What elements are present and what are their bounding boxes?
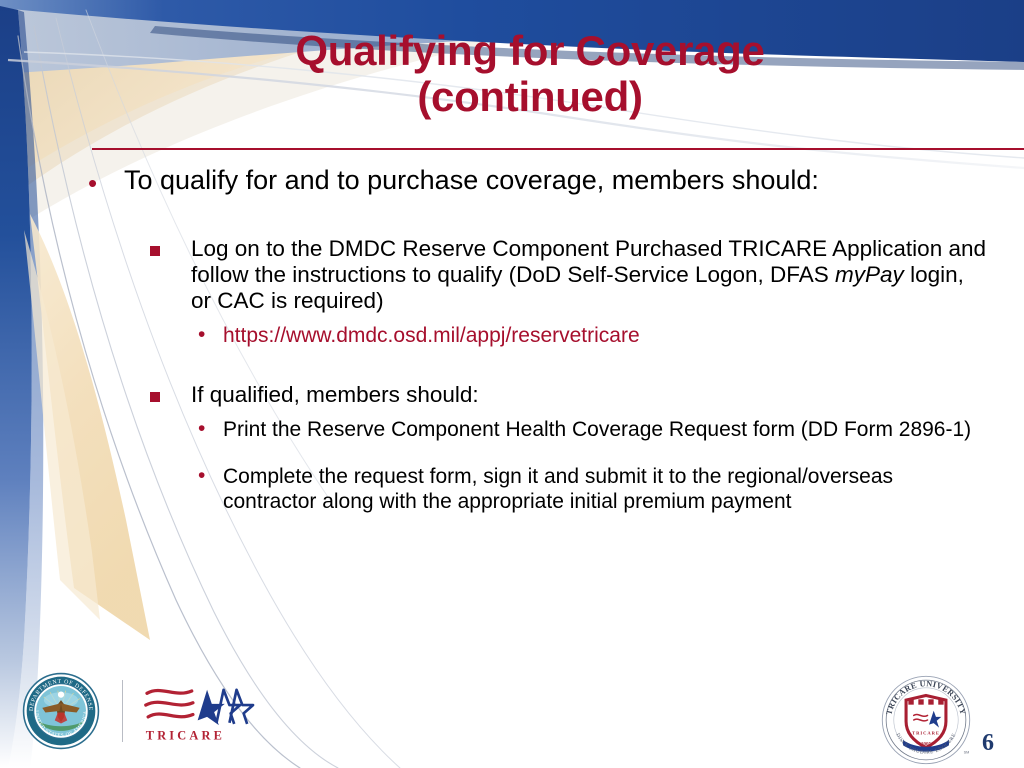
tricare-university-seal-icon: TRICARE 2005 TRICARE UNIVERSITY DISCE ER… — [880, 674, 972, 766]
dod-seal-icon: DEPARTMENT OF DEFENSE UNITED STATES OF A… — [22, 672, 100, 750]
bullet-level3-item-print-form: • Print the Reserve Component Health Cov… — [198, 417, 988, 442]
reservetricare-url-link[interactable]: https://www.dmdc.osd.mil/appj/reservetri… — [223, 323, 988, 348]
title-line-2: (continued) — [90, 74, 970, 120]
footer-right-group: TRICARE 2005 TRICARE UNIVERSITY DISCE ER… — [880, 674, 994, 766]
square-bullet-icon — [150, 236, 191, 256]
square-bullet-icon — [150, 382, 191, 402]
round-dot-bullet-icon: • — [198, 323, 223, 345]
spacer — [88, 348, 988, 382]
slide-title: Qualifying for Coverage (continued) — [90, 28, 970, 120]
footer-divider — [122, 680, 123, 742]
bullet-level1-text: To qualify for and to purchase coverage,… — [124, 164, 988, 196]
slide-body: • To qualify for and to purchase coverag… — [88, 164, 988, 514]
round-dot-bullet-icon: • — [198, 464, 223, 486]
footer-logos-left: DEPARTMENT OF DEFENSE UNITED STATES OF A… — [22, 672, 259, 750]
bullet-level2-item-if-qualified: If qualified, members should: — [150, 382, 988, 408]
bullet-level1-item: • To qualify for and to purchase coverag… — [88, 164, 988, 196]
round-dot-bullet-icon: • — [198, 417, 223, 439]
slide-number: 6 — [982, 730, 994, 757]
svg-text:TRICARE: TRICARE — [146, 728, 225, 742]
spacer — [88, 442, 988, 464]
bullet-level2-text-if-qualified: If qualified, members should: — [191, 382, 988, 408]
left-blue-band-feather — [8, 10, 43, 768]
svg-text:TRICARE: TRICARE — [912, 731, 940, 736]
left-blue-band — [0, 6, 32, 768]
round-dot-bullet-icon: • — [88, 164, 124, 196]
title-underline-rule — [92, 148, 1024, 150]
svg-text:2005: 2005 — [921, 742, 931, 747]
title-line-1: Qualifying for Coverage — [90, 28, 970, 74]
mypay-italic-text: myPay — [835, 262, 904, 287]
spacer — [88, 314, 988, 323]
slide-canvas: Qualifying for Coverage (continued) • To… — [0, 0, 1024, 768]
bullet-level3-text-complete-form: Complete the request form, sign it and s… — [223, 464, 988, 514]
service-mark-text: SM — [964, 751, 970, 755]
bullet-level2-text-logon: Log on to the DMDC Reserve Component Pur… — [191, 236, 988, 314]
spacer — [88, 202, 988, 236]
bullet-level2-item-logon: Log on to the DMDC Reserve Component Pur… — [150, 236, 988, 314]
tricare-logo-icon: TRICARE — [141, 678, 259, 744]
spacer — [88, 408, 988, 417]
bullet-level3-item-complete-form: • Complete the request form, sign it and… — [198, 464, 988, 514]
bullet-level3-item-url[interactable]: • https://www.dmdc.osd.mil/appj/reservet… — [198, 323, 988, 348]
bullet-level3-text-print-form: Print the Reserve Component Health Cover… — [223, 417, 988, 442]
